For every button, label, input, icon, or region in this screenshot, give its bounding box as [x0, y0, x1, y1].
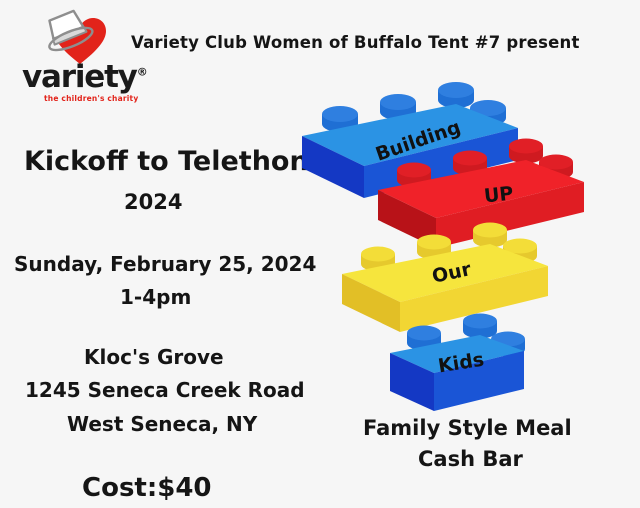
variety-wordmark-text: variety	[22, 59, 137, 95]
flyer-canvas: variety® the children's charity Variety …	[0, 0, 640, 508]
event-title-year: 2024	[124, 190, 182, 214]
variety-logo: variety® the children's charity	[18, 4, 178, 112]
event-cost: Cost:$40	[82, 473, 212, 503]
venue-street: 1245 Seneca Creek Road	[25, 378, 305, 402]
meal-line-2: Cash Bar	[418, 447, 523, 471]
presenter-line: Variety Club Women of Buffalo Tent #7 pr…	[131, 33, 580, 52]
variety-tagline: the children's charity	[44, 94, 138, 103]
venue-city: West Seneca, NY	[67, 412, 257, 436]
registered-mark: ®	[137, 66, 147, 79]
event-time: 1-4pm	[120, 285, 191, 309]
event-date: Sunday, February 25, 2024	[14, 252, 316, 276]
venue-name: Kloc's Grove	[84, 345, 224, 369]
lego-brick-kids: Kids	[386, 305, 528, 420]
variety-wordmark: variety®	[22, 62, 174, 93]
event-title: Kickoff to Telethon	[24, 146, 309, 177]
